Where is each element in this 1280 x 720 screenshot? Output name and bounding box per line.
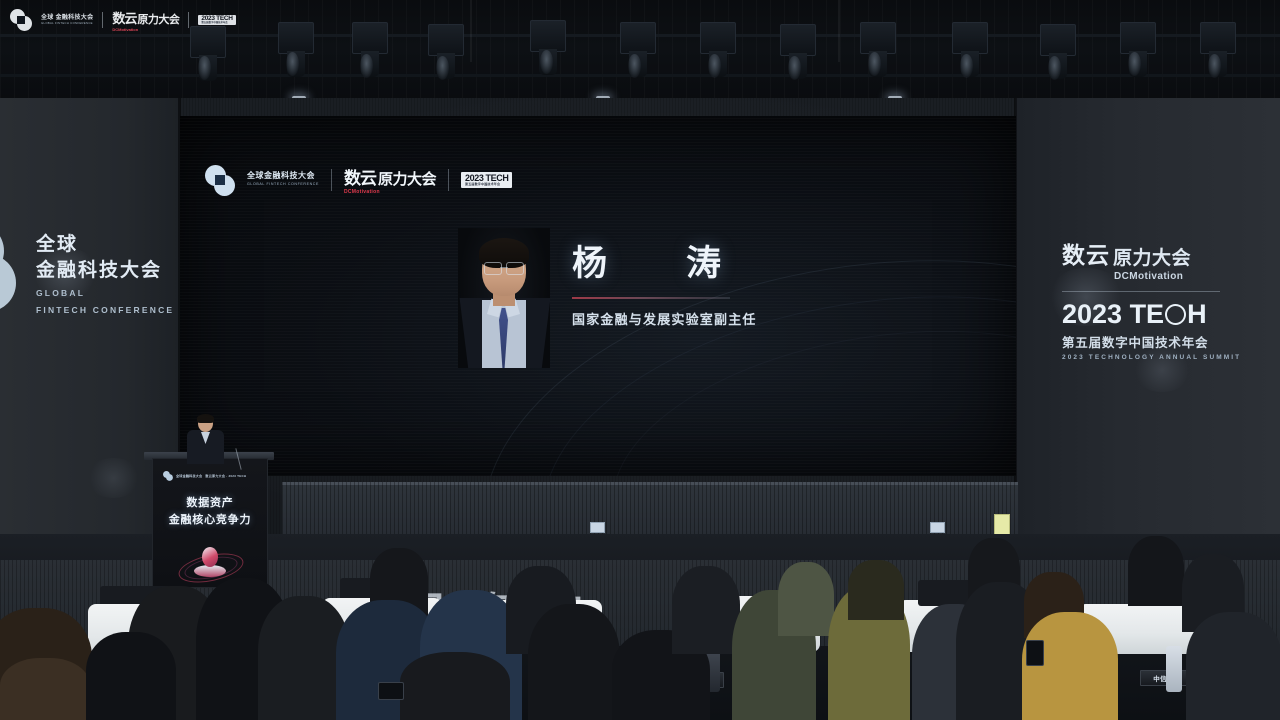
watermark-divider	[102, 12, 103, 28]
lamp-glow	[868, 52, 881, 76]
left-wall-en-line1: GLOBAL	[36, 287, 174, 300]
screen-badge-sub: 第五届数字中国技术年会	[465, 183, 508, 186]
watermark-dcm-b: 原力大会	[137, 11, 179, 27]
podium-logo-cn: 全球金融科技大会	[176, 474, 202, 478]
right-wall-signage: 数云 原力大会 DCMotivation 2023 TE H 第五届数字中国技术…	[1062, 236, 1242, 361]
stage-light	[780, 24, 816, 56]
right-wall-brand-en: DCMotivation	[1114, 271, 1242, 282]
audience-person	[1186, 612, 1280, 720]
audience-person	[528, 604, 620, 720]
stage-light	[860, 22, 896, 54]
right-wall-year-tech: 2023 TE	[1062, 299, 1164, 330]
gfc-logo-icon	[205, 165, 235, 195]
watermark-dcm-a: 数云	[112, 8, 136, 27]
lamp-glow	[788, 56, 801, 80]
stage-light	[1120, 22, 1156, 54]
smartphone[interactable]	[1026, 640, 1044, 666]
audience-person	[778, 562, 834, 636]
stage-light	[952, 22, 988, 54]
watermark-badge-sub: 第五届数字中国技术年会	[201, 22, 232, 24]
right-wall-brand-cn2: 原力大会	[1113, 243, 1191, 270]
apron-vent	[930, 522, 945, 533]
podium: 全球金融科技大会 数云原力大会 · 2023 TECH 数据资产 金融核心竞争力	[152, 458, 268, 588]
stage-light	[700, 22, 736, 54]
left-wall-en-line2: FINTECH CONFERENCE	[36, 304, 174, 317]
podium-title-line2: 金融核心竞争力	[153, 512, 267, 529]
left-wall-logo-icon	[0, 222, 30, 316]
conference-stage-scene: 全球 金融科技大会 GLOBAL FINTECH CONFERENCE 数云 原…	[0, 0, 1280, 720]
screen-dcm-sub: DCMotivation	[344, 189, 436, 195]
audience-person	[848, 560, 904, 620]
speaker-title: 国家金融与发展实验室副主任	[572, 309, 757, 328]
watermark-gfc-text: 全球 金融科技大会 GLOBAL FINTECH CONFERENCE	[41, 15, 93, 25]
speaker-name-block: 杨 涛 国家金融与发展实验室副主任	[572, 246, 757, 328]
gfc-logo-icon-small	[163, 471, 173, 481]
screen-dcm-b: 原力大会	[378, 168, 436, 189]
name-underline	[572, 297, 730, 299]
speaker-portrait	[458, 228, 550, 368]
orb-graphic-icon	[178, 545, 242, 579]
stage-light	[428, 24, 464, 56]
lamp-glow	[540, 50, 553, 74]
stage-light	[278, 22, 314, 54]
at-ring-icon	[1162, 301, 1189, 328]
watermark-dcm-logo: 数云 原力大会 DCMotivation	[112, 8, 179, 32]
watermark-tech-badge: 2023 TECH 第五届数字中国技术年会	[198, 15, 235, 26]
right-wall-summit-cn: 第五届数字中国技术年会	[1062, 332, 1242, 351]
screen-gfc-text: 全球金融科技大会 GLOBAL FINTECH CONFERENCE	[247, 172, 319, 186]
lamp-glow	[628, 54, 641, 78]
truss-cable	[838, 0, 840, 62]
stage-apron	[282, 482, 1018, 534]
audience-person	[400, 652, 510, 720]
screen-dcm-a: 数云	[344, 164, 376, 189]
podium-title: 数据资产 金融核心竞争力	[153, 495, 267, 528]
podium-logo-mini: 数云原力大会 · 2023 TECH	[205, 474, 246, 478]
stage-light	[352, 22, 388, 54]
audience-person	[672, 566, 740, 654]
lamp-glow	[198, 56, 211, 80]
right-wall-tech-tail: H	[1187, 299, 1207, 330]
watermark-divider	[188, 12, 189, 28]
lamp-glow	[436, 56, 449, 80]
stage-light	[530, 20, 566, 52]
broadcast-watermark: 全球 金融科技大会 GLOBAL FINTECH CONFERENCE 数云 原…	[10, 8, 236, 32]
speaker-name: 杨 涛	[572, 246, 757, 281]
podium-logos: 全球金融科技大会 数云原力大会 · 2023 TECH	[163, 471, 246, 481]
right-wall-summit-en: 2023 TECHNOLOGY ANNUAL SUMMIT	[1062, 354, 1242, 361]
right-wall-brand-cn: 数云	[1062, 236, 1110, 270]
watermark-gfc-en: GLOBAL FINTECH CONFERENCE	[41, 22, 93, 25]
audience-person	[86, 632, 176, 720]
left-wall-signage: 全球 金融科技大会 GLOBAL FINTECH CONFERENCE	[36, 232, 174, 317]
smartphone[interactable]	[378, 682, 404, 700]
right-wall-divider	[1062, 291, 1220, 292]
right-wall-tech-line: 2023 TE H	[1062, 299, 1242, 330]
logo-divider	[331, 169, 332, 191]
left-wall-cn-line1: 全球	[36, 232, 174, 258]
lamp-glow	[1128, 52, 1141, 76]
screen-gfc-cn: 全球金融科技大会	[247, 172, 319, 180]
audience-person	[1128, 536, 1184, 606]
screen-header-logos: 全球金融科技大会 GLOBAL FINTECH CONFERENCE 数云 原力…	[205, 164, 512, 195]
screen-dcm-logo: 数云 原力大会 DCMotivation	[344, 164, 436, 195]
apron-vent	[590, 522, 605, 533]
presenter-at-podium	[185, 415, 225, 463]
audience-person	[1022, 612, 1118, 720]
screen-gfc-en: GLOBAL FINTECH CONFERENCE	[247, 183, 319, 187]
screen-tech-badge: 2023 TECH 第五届数字中国技术年会	[461, 172, 512, 188]
audience-person	[0, 658, 90, 720]
lamp-glow	[708, 54, 721, 78]
watermark-dcm-sub: DCMotivation	[112, 27, 138, 32]
left-wall-cn-line2: 金融科技大会	[36, 258, 174, 284]
lamp-glow	[1208, 54, 1221, 78]
stage-light	[1040, 24, 1076, 56]
lamp-glow	[1048, 56, 1061, 80]
apron-vent-amber	[994, 514, 1010, 536]
gfc-watermark-logo-icon	[10, 9, 32, 31]
lamp-glow	[360, 54, 373, 78]
lamp-glow	[286, 52, 299, 76]
stage-light	[620, 22, 656, 54]
glasses-icon	[484, 262, 524, 273]
truss-cable	[470, 0, 472, 62]
podium-title-line1: 数据资产	[153, 495, 267, 512]
logo-divider	[448, 169, 449, 191]
water-bottle	[1166, 646, 1182, 692]
lamp-glow	[960, 54, 973, 78]
stage-light	[1200, 22, 1236, 54]
